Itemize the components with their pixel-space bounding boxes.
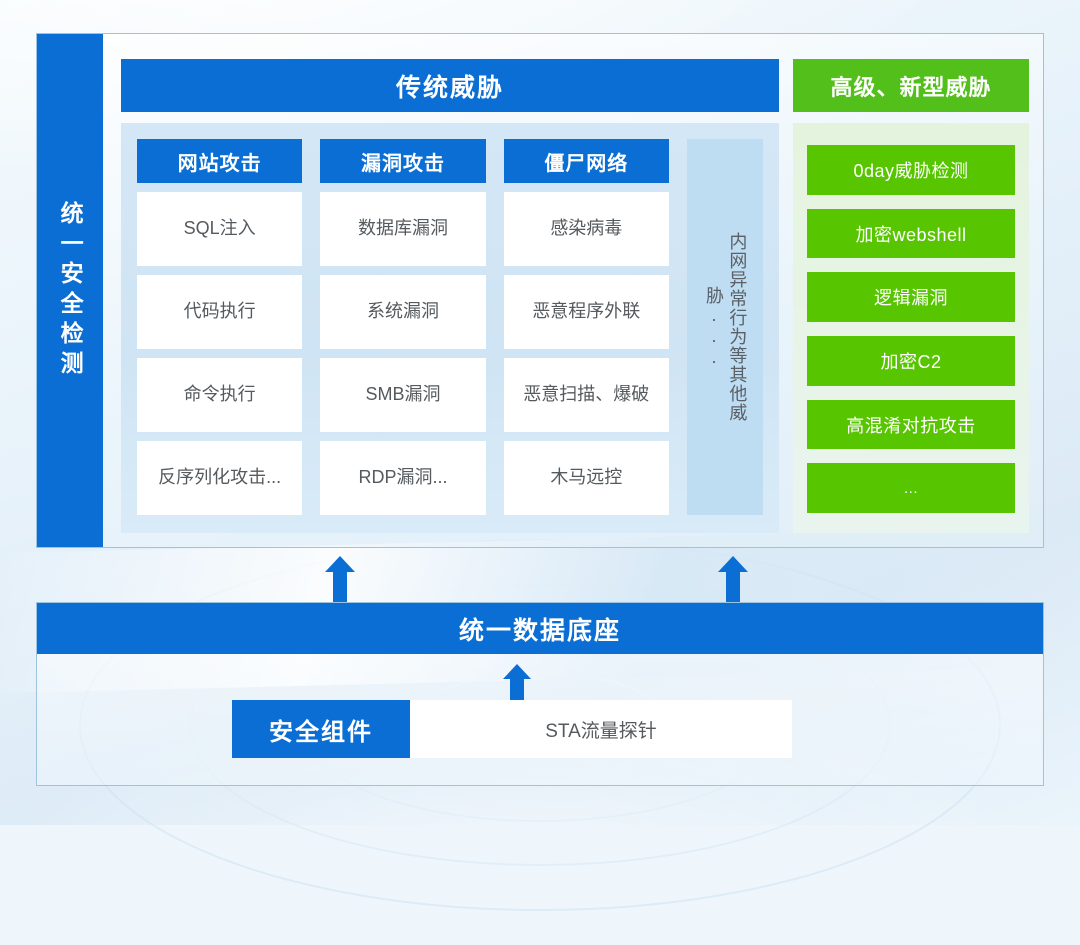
panel-body: 传统威胁 网站攻击 SQL注入 代码执行 命令执行 反序列化攻击... 漏洞攻击…	[103, 34, 1043, 547]
advanced-threat-item[interactable]: 0day威胁检测	[807, 145, 1015, 195]
traditional-threats-block: 传统威胁 网站攻击 SQL注入 代码执行 命令执行 反序列化攻击... 漏洞攻击…	[121, 59, 779, 533]
threat-item[interactable]: 命令执行	[137, 358, 302, 432]
threat-item[interactable]: 数据库漏洞	[320, 192, 485, 266]
threat-item[interactable]: RDP漏洞...	[320, 441, 485, 515]
other-internal-threats-strip: 内网异常行为等其他威胁...	[687, 139, 763, 515]
threat-item[interactable]: 反序列化攻击...	[137, 441, 302, 515]
threat-item[interactable]: SMB漏洞	[320, 358, 485, 432]
traditional-threats-grid: 网站攻击 SQL注入 代码执行 命令执行 反序列化攻击... 漏洞攻击 数据库漏…	[121, 123, 779, 533]
security-components-row: 安全组件 STA流量探针	[232, 700, 792, 758]
column-header-vulnerability-attack: 漏洞攻击	[320, 139, 485, 183]
threat-column-website-attack: 网站攻击 SQL注入 代码执行 命令执行 反序列化攻击...	[137, 139, 302, 515]
advanced-threats-banner: 高级、新型威胁	[793, 59, 1029, 112]
threat-column-vulnerability-attack: 漏洞攻击 数据库漏洞 系统漏洞 SMB漏洞 RDP漏洞...	[320, 139, 485, 515]
column-header-botnet: 僵尸网络	[504, 139, 669, 183]
sta-traffic-probe-box[interactable]: STA流量探针	[410, 700, 792, 758]
threat-item[interactable]: 系统漏洞	[320, 275, 485, 349]
advanced-threat-item-more[interactable]: ...	[807, 463, 1015, 513]
advanced-threat-item[interactable]: 加密webshell	[807, 209, 1015, 259]
unified-detection-rail: 统一安全检测	[37, 34, 103, 547]
unified-detection-label: 统一安全检测	[58, 201, 82, 381]
security-component-label: 安全组件	[232, 700, 410, 758]
advanced-threat-item[interactable]: 加密C2	[807, 336, 1015, 386]
other-internal-threats-label: 内网异常行为等其他威胁...	[702, 212, 749, 442]
advanced-threats-list: 0day威胁检测 加密webshell 逻辑漏洞 加密C2 高混淆对抗攻击 ..…	[793, 123, 1029, 533]
unified-data-base-frame: 统一数据底座	[36, 602, 1044, 786]
traditional-threats-banner: 传统威胁	[121, 59, 779, 112]
threat-column-botnet: 僵尸网络 感染病毒 恶意程序外联 恶意扫描、爆破 木马远控	[504, 139, 669, 515]
column-header-website-attack: 网站攻击	[137, 139, 302, 183]
unified-data-base-bar: 统一数据底座	[37, 603, 1043, 654]
threat-item[interactable]: 感染病毒	[504, 192, 669, 266]
threat-item[interactable]: SQL注入	[137, 192, 302, 266]
unified-detection-panel: 统一安全检测 传统威胁 网站攻击 SQL注入 代码执行 命令执行 反序列化攻击.…	[36, 33, 1044, 548]
threat-item[interactable]: 恶意扫描、爆破	[504, 358, 669, 432]
advanced-threat-item[interactable]: 逻辑漏洞	[807, 272, 1015, 322]
threat-item[interactable]: 恶意程序外联	[504, 275, 669, 349]
arrow-up-icon-right	[718, 556, 748, 602]
threat-item[interactable]: 木马远控	[504, 441, 669, 515]
advanced-threat-item[interactable]: 高混淆对抗攻击	[807, 400, 1015, 450]
threat-item[interactable]: 代码执行	[137, 275, 302, 349]
advanced-threats-block: 高级、新型威胁 0day威胁检测 加密webshell 逻辑漏洞 加密C2 高混…	[793, 59, 1029, 533]
arrow-up-icon-left	[325, 556, 355, 602]
